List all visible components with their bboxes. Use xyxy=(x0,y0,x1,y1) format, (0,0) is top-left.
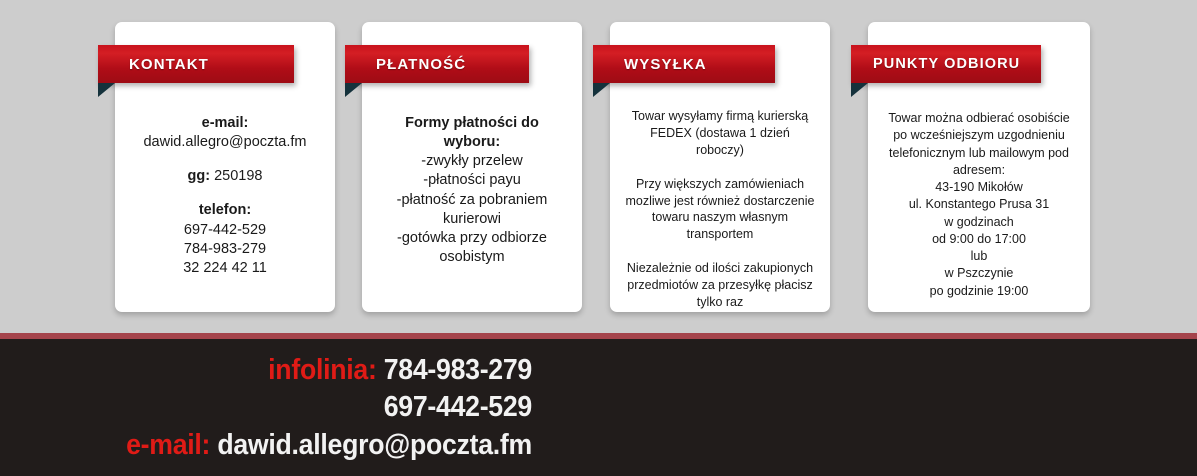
wysylka-p3-l1: Niezależnie od ilości zakupionych xyxy=(618,260,822,277)
card-body-kontakt: e-mail: dawid.allegro@poczta.fm gg: 2501… xyxy=(123,114,327,278)
kontakt-phone-label: telefon: xyxy=(123,201,327,220)
kontakt-phone-1: 697-442-529 xyxy=(123,221,327,240)
platnosc-option-4a: -gotówka przy odbiorze xyxy=(370,229,574,248)
kontakt-email-value: dawid.allegro@poczta.fm xyxy=(123,133,327,152)
kontakt-gg-label: gg: xyxy=(188,168,211,184)
ribbon-fold-icon xyxy=(593,83,610,97)
footer-email-label: e-mail: xyxy=(126,429,210,461)
card-ribbon-platnosc: PŁATNOŚĆ xyxy=(345,45,529,83)
wysylka-p3-l2: przedmiotów za przesyłkę płacisz xyxy=(618,277,822,294)
platnosc-option-3b: kurierowi xyxy=(370,210,574,229)
kontakt-gg-row: gg: 250198 xyxy=(123,167,327,186)
wysylka-p1-l3: roboczy) xyxy=(618,142,822,159)
ribbon-fold-icon xyxy=(98,83,115,97)
platnosc-heading-2: wyboru: xyxy=(370,133,574,152)
ribbon-banner: WYSYŁKA xyxy=(593,45,775,83)
footer-contact-block: infolinia: 784-983-279 697-442-529 e-mai… xyxy=(0,352,560,464)
punkty-hours-value: od 9:00 do 17:00 xyxy=(876,231,1082,248)
wysylka-p2-l3: towaru naszym własnym xyxy=(618,209,822,226)
platnosc-option-3a: -płatność za pobraniem xyxy=(370,191,574,210)
footer-bar: infolinia: 784-983-279 697-442-529 e-mai… xyxy=(0,339,1197,476)
ribbon-fold-icon xyxy=(345,83,362,97)
wysylka-p3-l3: tylko raz xyxy=(618,294,822,311)
wysylka-p1-l2: FEDEX (dostawa 1 dzień xyxy=(618,125,822,142)
punkty-hours-2: po godzinie 19:00 xyxy=(876,283,1082,300)
wysylka-p2-l4: transportem xyxy=(618,226,822,243)
info-cards-strip: KONTAKT e-mail: dawid.allegro@poczta.fm … xyxy=(0,0,1197,333)
kontakt-phone-2: 784-983-279 xyxy=(123,240,327,259)
footer-hotline-row-2: 697-442-529 xyxy=(43,389,532,426)
wysylka-p2-l1: Przy większych zamówieniach xyxy=(618,176,822,193)
footer-hotline-value-2: 697-442-529 xyxy=(384,391,532,423)
footer-hotline-value: 784-983-279 xyxy=(384,354,532,386)
punkty-postcode-city: 43-190 Mikołów xyxy=(876,179,1082,196)
card-title-punkty-odbioru: PUNKTY ODBIORU xyxy=(851,56,1020,72)
footer-hotline-label: infolinia: xyxy=(268,354,376,386)
punkty-city-2: w Pszczynie xyxy=(876,265,1082,282)
card-body-wysylka: Towar wysyłamy firmą kurierską FEDEX (do… xyxy=(618,108,822,311)
info-card-platnosc: PŁATNOŚĆ Formy płatności do wyboru: -zwy… xyxy=(362,22,582,312)
card-title-wysylka: WYSYŁKA xyxy=(593,56,707,73)
ribbon-banner: PŁATNOŚĆ xyxy=(345,45,529,83)
card-title-platnosc: PŁATNOŚĆ xyxy=(345,56,466,73)
wysylka-p1-l1: Towar wysyłamy firmą kurierską xyxy=(618,108,822,125)
card-ribbon-kontakt: KONTAKT xyxy=(98,45,294,83)
punkty-l3: telefonicznym lub mailowym pod xyxy=(876,145,1082,162)
footer-email-row: e-mail: dawid.allegro@poczta.fm xyxy=(43,427,532,464)
card-body-punkty-odbioru: Towar można odbierać osobiście po wcześn… xyxy=(876,110,1082,300)
kontakt-gg-value: 250198 xyxy=(214,168,262,184)
page-root: KONTAKT e-mail: dawid.allegro@poczta.fm … xyxy=(0,0,1197,476)
info-card-kontakt: KONTAKT e-mail: dawid.allegro@poczta.fm … xyxy=(115,22,335,312)
platnosc-option-1: -zwykły przelew xyxy=(370,152,574,171)
wysylka-p2-l2: mozliwe jest również dostarczenie xyxy=(618,193,822,210)
punkty-l4: adresem: xyxy=(876,162,1082,179)
punkty-l2: po wcześniejszym uzgodnieniu xyxy=(876,127,1082,144)
footer-hotline-row: infolinia: 784-983-279 xyxy=(43,352,532,389)
card-body-platnosc: Formy płatności do wyboru: -zwykły przel… xyxy=(370,114,574,267)
footer-email-value: dawid.allegro@poczta.fm xyxy=(217,429,532,461)
card-ribbon-punkty-odbioru: PUNKTY ODBIORU xyxy=(851,45,1041,83)
kontakt-phone-3: 32 224 42 11 xyxy=(123,259,327,278)
punkty-street: ul. Konstantego Prusa 31 xyxy=(876,196,1082,213)
ribbon-fold-icon xyxy=(851,83,868,97)
info-card-wysylka: WYSYŁKA Towar wysyłamy firmą kurierską F… xyxy=(610,22,830,312)
card-ribbon-wysylka: WYSYŁKA xyxy=(593,45,775,83)
info-card-punkty-odbioru: PUNKTY ODBIORU Towar można odbierać osob… xyxy=(868,22,1090,312)
ribbon-banner: PUNKTY ODBIORU xyxy=(851,45,1041,83)
platnosc-heading-1: Formy płatności do xyxy=(370,114,574,133)
punkty-l1: Towar można odbierać osobiście xyxy=(876,110,1082,127)
card-title-kontakt: KONTAKT xyxy=(98,56,209,73)
punkty-hours-label: w godzinach xyxy=(876,214,1082,231)
platnosc-option-2: -płatności payu xyxy=(370,171,574,190)
platnosc-option-4b: osobistym xyxy=(370,248,574,267)
kontakt-email-label: e-mail: xyxy=(123,114,327,133)
punkty-or: lub xyxy=(876,248,1082,265)
ribbon-banner: KONTAKT xyxy=(98,45,294,83)
